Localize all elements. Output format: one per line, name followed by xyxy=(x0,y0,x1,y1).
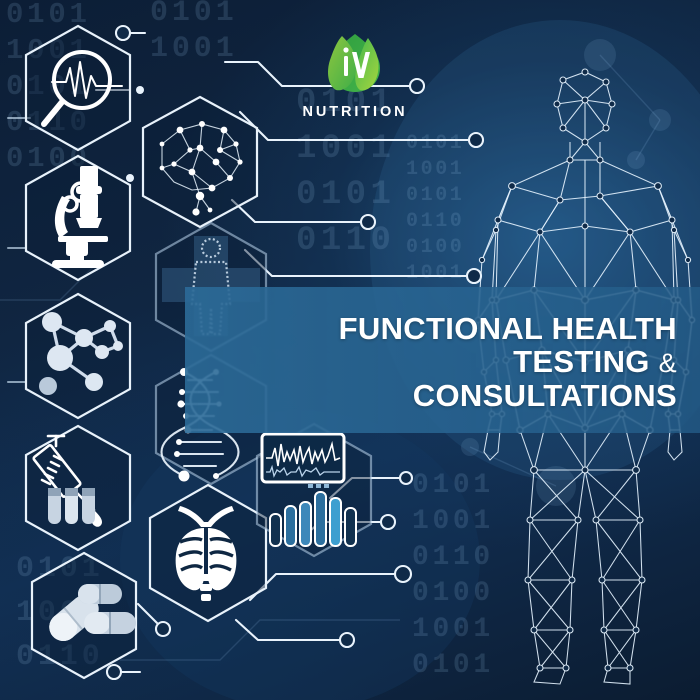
promo-graphic: 0101 1001 0101 0110 0100 0101 1001 0101 … xyxy=(0,0,700,700)
brand-name: NUTRITION xyxy=(300,104,410,120)
brand-logo[interactable]: NUTRITION xyxy=(300,26,410,118)
title-line-2-text: TESTING xyxy=(513,344,650,379)
title-ampersand: & xyxy=(659,348,677,378)
title-line-2: TESTING & xyxy=(513,345,677,378)
title-line-3: CONSULTATIONS xyxy=(413,379,677,412)
leaf-droplet-icon xyxy=(300,26,410,98)
title-line-1: FUNCTIONAL HEALTH xyxy=(339,312,677,345)
page-title: FUNCTIONAL HEALTH TESTING & CONSULTATION… xyxy=(185,292,677,432)
